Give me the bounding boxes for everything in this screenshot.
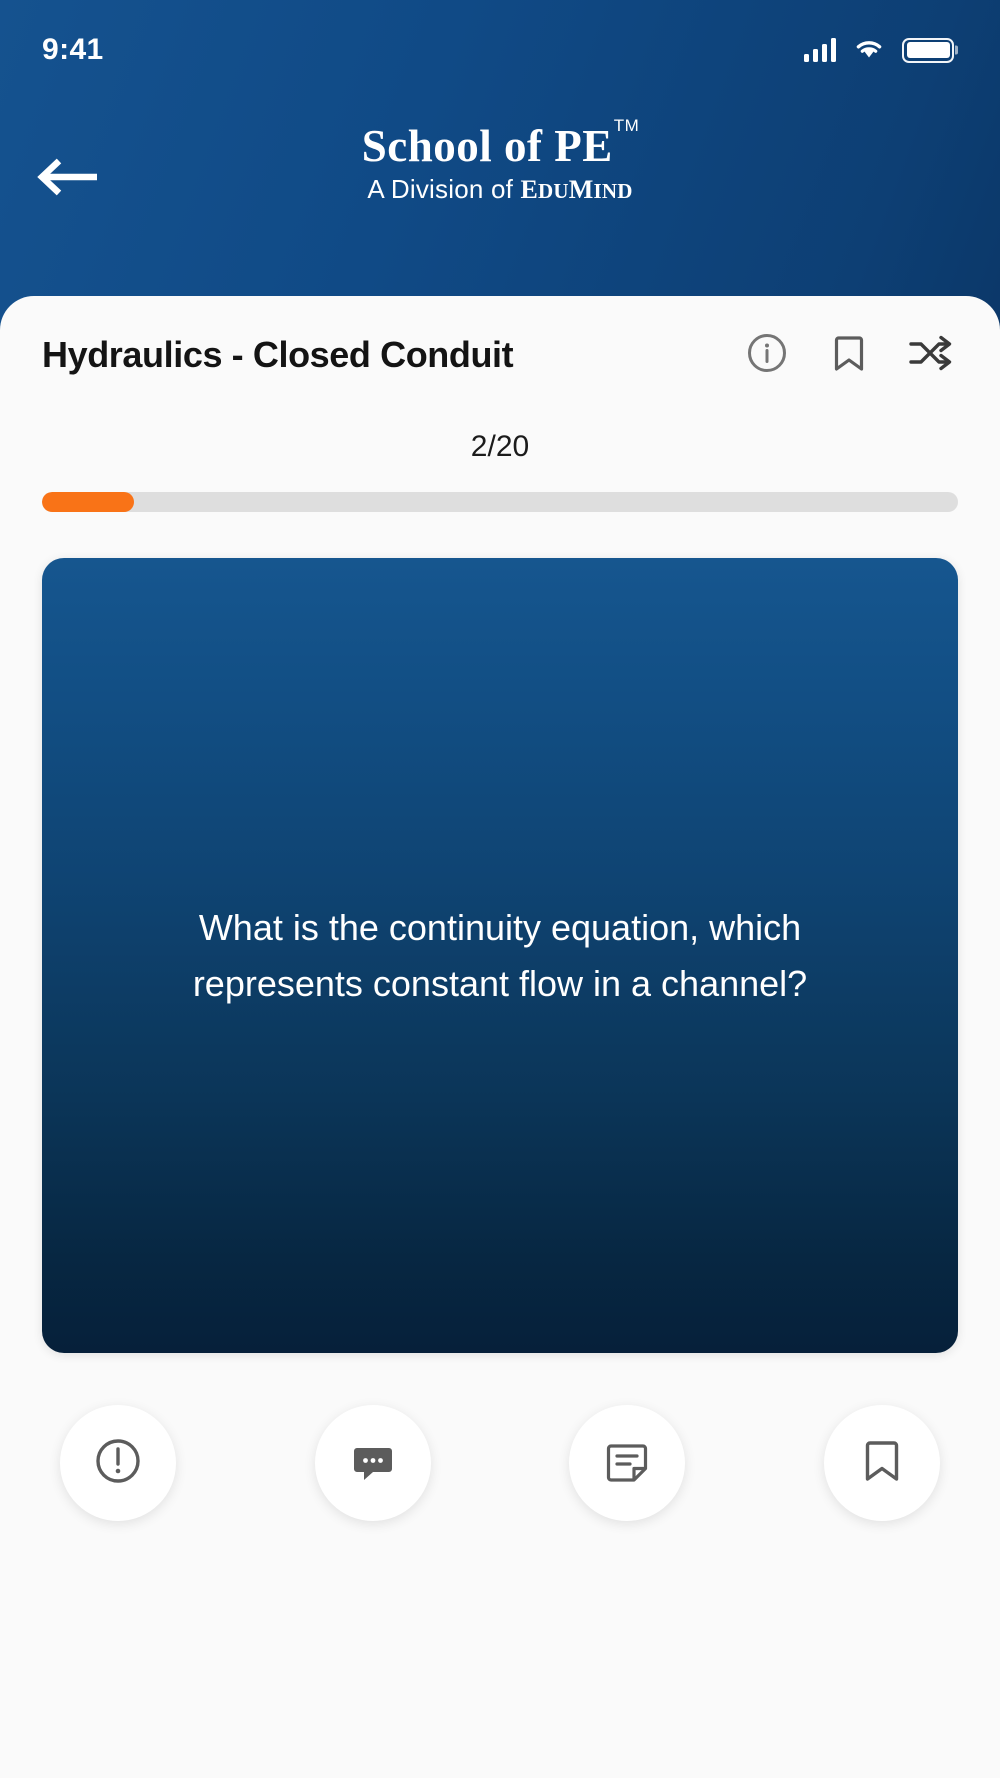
brand-lockup: School of PETM A Division of EDUMIND bbox=[0, 122, 1000, 205]
shuffle-icon bbox=[908, 332, 954, 379]
status-indicators bbox=[804, 36, 955, 65]
discuss-button[interactable] bbox=[315, 1405, 431, 1521]
info-icon bbox=[746, 332, 788, 379]
app-screen: 9:41 School of PETM A Divi bbox=[0, 0, 1000, 1778]
bookmark-icon bbox=[828, 332, 870, 379]
progress-counter: 2/20 bbox=[42, 430, 958, 464]
brand-title-text: School of PE bbox=[362, 121, 613, 171]
status-time: 9:41 bbox=[42, 33, 104, 67]
brand-subtitle-prefix: A Division of bbox=[367, 174, 520, 204]
save-bookmark-button[interactable] bbox=[824, 1405, 940, 1521]
info-button[interactable] bbox=[744, 332, 790, 378]
flashcard-question: What is the continuity equation, which r… bbox=[120, 900, 880, 1011]
wifi-icon bbox=[853, 36, 885, 65]
trademark-symbol: TM bbox=[614, 116, 640, 135]
note-icon bbox=[601, 1435, 653, 1492]
brand-title: School of PETM bbox=[362, 122, 639, 171]
progress-bar-fill bbox=[42, 492, 134, 512]
flashcard-action-bar bbox=[42, 1405, 958, 1521]
content-sheet: Hydraulics - Closed Conduit bbox=[0, 296, 1000, 1778]
report-issue-button[interactable] bbox=[60, 1405, 176, 1521]
deck-actions bbox=[744, 332, 958, 378]
bookmark-icon bbox=[856, 1435, 908, 1492]
report-issue-icon bbox=[92, 1435, 144, 1492]
page-title: Hydraulics - Closed Conduit bbox=[42, 334, 513, 376]
cellular-signal-icon bbox=[804, 38, 837, 62]
flashcard[interactable]: What is the continuity equation, which r… bbox=[42, 558, 958, 1353]
app-header: School of PETM A Division of EDUMIND bbox=[0, 100, 1000, 265]
brand-subtitle-edumind: EDUMIND bbox=[520, 175, 632, 204]
notes-button[interactable] bbox=[569, 1405, 685, 1521]
deck-title-row: Hydraulics - Closed Conduit bbox=[42, 296, 958, 378]
bookmark-button[interactable] bbox=[826, 332, 872, 378]
chat-bubble-icon bbox=[347, 1435, 399, 1492]
progress-bar[interactable] bbox=[42, 492, 958, 512]
shuffle-button[interactable] bbox=[908, 332, 954, 378]
brand-subtitle: A Division of EDUMIND bbox=[0, 174, 1000, 205]
status-bar: 9:41 bbox=[0, 0, 1000, 100]
battery-full-icon bbox=[902, 38, 954, 63]
